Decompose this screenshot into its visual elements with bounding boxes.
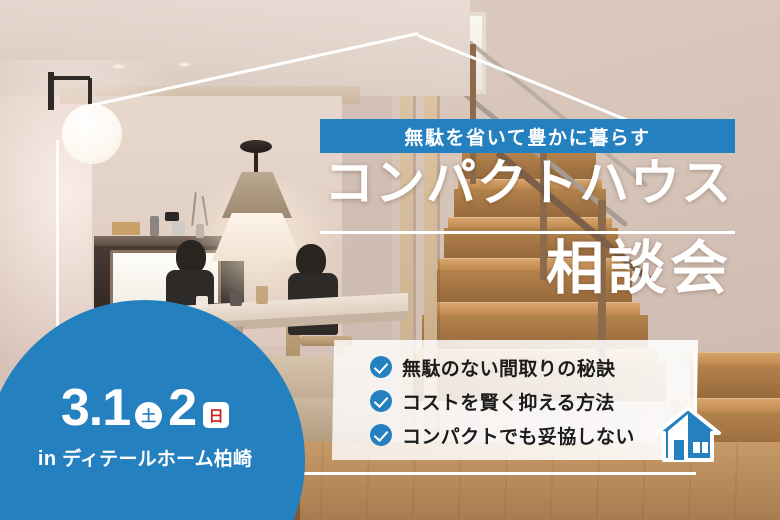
- sunday-badge: 日: [203, 402, 229, 428]
- stair-tread: [426, 302, 640, 315]
- list-item: 無駄のない間取りの秘訣: [370, 354, 690, 381]
- shelf-basket: [112, 222, 140, 235]
- person-seated-left-head: [176, 240, 206, 274]
- saturday-badge: 土: [135, 402, 162, 429]
- table-plant: [256, 286, 268, 304]
- stair-tread: [686, 352, 780, 365]
- wall-sconce-drop: [88, 78, 92, 106]
- check-icon: [370, 356, 392, 378]
- benefits-list: 無駄のない間取りの秘訣 コストを賢く抑える方法 コンパクトでも妥協しない: [370, 345, 690, 457]
- venue-name: ディテールホーム柏崎: [62, 449, 252, 470]
- list-item-label: コストを賢く抑える方法: [402, 388, 615, 415]
- title-divider-rule: [320, 231, 735, 234]
- title-line-1: コンパクトハウス: [318, 158, 738, 208]
- wall-sconce-arm: [52, 76, 90, 80]
- list-item-label: コンパクトでも妥協しない: [402, 422, 635, 449]
- promo-poster: 無駄を省いて豊かに暮らす コンパクトハウス 相談会 無駄のない間取りの秘訣 コス…: [0, 0, 780, 520]
- check-icon: [370, 390, 392, 412]
- subtitle-banner: 無駄を省いて豊かに暮らす: [320, 119, 735, 153]
- wall-sconce-mount: [48, 72, 54, 110]
- event-venue: in ディテールホーム柏崎: [10, 444, 280, 471]
- list-item-label: 無駄のない間取りの秘訣: [402, 354, 615, 381]
- table-mug: [230, 292, 242, 306]
- title-line-2: 相談会: [318, 240, 738, 298]
- subtitle-banner-text: 無駄を省いて豊かに暮らす: [404, 123, 650, 150]
- shelf-carafe: [172, 221, 185, 236]
- event-date: 3.1 土 2 日: [20, 378, 270, 438]
- pendant-lamp-cap: [240, 140, 272, 153]
- check-icon: [370, 424, 392, 446]
- shelf-kettle: [150, 216, 159, 236]
- venue-prefix: in: [38, 448, 57, 470]
- date-day-1: 3.1: [61, 382, 130, 434]
- stair-riser: [690, 365, 780, 401]
- date-day-2: 2: [168, 382, 196, 434]
- list-item: コストを賢く抑える方法: [370, 388, 690, 415]
- house-icon: [655, 406, 721, 464]
- wall-sconce-globe: [62, 104, 122, 164]
- list-item: コンパクトでも妥協しない: [370, 422, 690, 449]
- table-cup: [196, 296, 208, 308]
- shelf-dripper: [165, 212, 179, 221]
